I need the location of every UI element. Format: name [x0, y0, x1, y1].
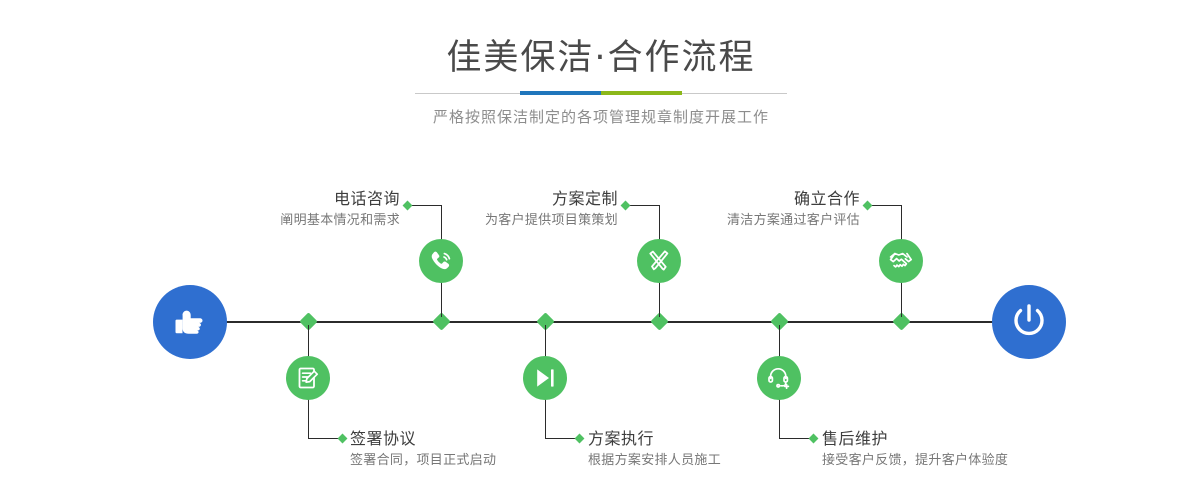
cooperation-process-infographic: 佳美保洁·合作流程 严格按照保洁制定的各项管理规章制度开展工作 [0, 0, 1202, 502]
step-desc-6: 接受客户反馈，提升客户体验度 [822, 450, 1152, 471]
step-icon-1[interactable] [419, 239, 463, 283]
connector-tip-2 [338, 434, 348, 444]
header: 佳美保洁·合作流程 严格按照保洁制定的各项管理规章制度开展工作 [0, 0, 1202, 150]
step-icon-3[interactable] [637, 239, 681, 283]
step-title-5: 确立合作 [600, 188, 860, 210]
page-title: 佳美保洁·合作流程 [0, 36, 1202, 80]
play-next-icon [532, 365, 558, 391]
step-icon-2[interactable] [286, 356, 330, 400]
title-divider-blue-segment [520, 91, 601, 95]
step-icon-5[interactable] [879, 239, 923, 283]
pointing-hand-icon [170, 300, 210, 344]
headset-support-icon [766, 365, 792, 391]
handshake-icon [888, 248, 914, 274]
pen-pencil-icon [646, 248, 672, 274]
title-divider-green-segment [601, 91, 682, 95]
step-title-3: 方案定制 [358, 188, 618, 210]
end-node [992, 285, 1066, 359]
phone-call-icon [428, 248, 454, 274]
step-desc-3: 为客户提供项目策策划 [358, 210, 618, 231]
step-desc-5: 清洁方案通过客户评估 [600, 210, 860, 231]
step-title-6: 售后维护 [822, 428, 1152, 450]
connector-tip-5 [863, 201, 873, 211]
page-subtitle: 严格按照保洁制定的各项管理规章制度开展工作 [0, 105, 1202, 129]
power-button-icon [1008, 299, 1050, 345]
step-icon-4[interactable] [523, 356, 567, 400]
start-node [153, 285, 227, 359]
connector-elbow-5 [868, 205, 902, 206]
step-icon-6[interactable] [757, 356, 801, 400]
document-edit-icon [295, 365, 321, 391]
